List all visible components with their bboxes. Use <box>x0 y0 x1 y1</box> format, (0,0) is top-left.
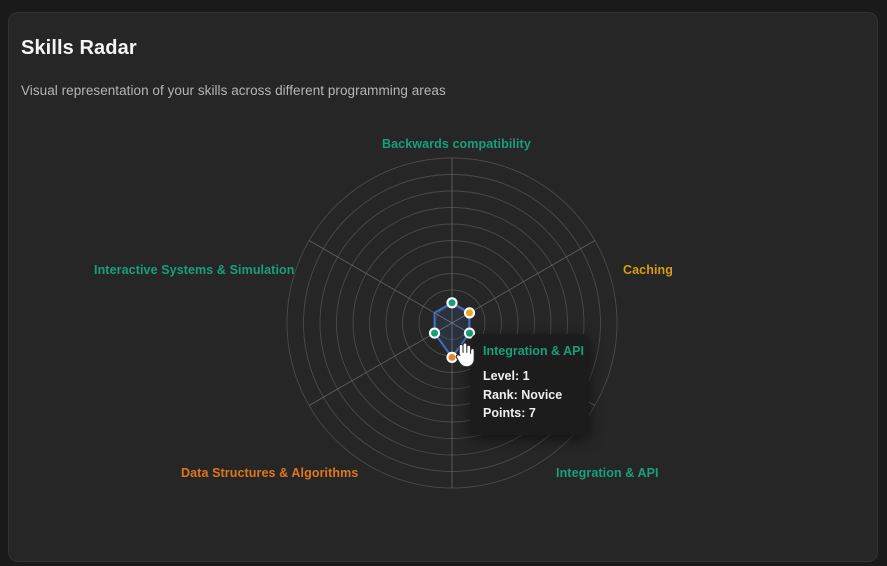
axis-label-caching[interactable]: Caching <box>623 263 673 277</box>
radar-svg <box>9 13 878 562</box>
skills-radar-card: Skills Radar Visual representation of yo… <box>8 12 878 562</box>
radar-point[interactable] <box>446 297 457 308</box>
radar-point[interactable] <box>429 327 440 338</box>
axis-label-data-structures-algorithms[interactable]: Data Structures & Algorithms <box>181 466 358 480</box>
tooltip-level: Level: 1 <box>483 367 577 386</box>
axis-label-backwards-compatibility[interactable]: Backwards compatibility <box>382 137 531 151</box>
tooltip-rank: Rank: Novice <box>483 386 577 405</box>
axis-label-interactive-systems-simulation[interactable]: Interactive Systems & Simulation <box>94 263 295 277</box>
radar-point[interactable] <box>446 352 457 363</box>
radar-point[interactable] <box>464 307 475 318</box>
axis-label-integration-api[interactable]: Integration & API <box>556 466 659 480</box>
tooltip-title: Integration & API <box>483 344 577 358</box>
radar-chart: Backwards compatibility Caching Integrat… <box>9 13 878 562</box>
tooltip-points: Points: 7 <box>483 404 577 423</box>
skill-tooltip: Integration & API Level: 1 Rank: Novice … <box>471 334 589 435</box>
app-root: Skills Radar Visual representation of yo… <box>0 0 887 566</box>
